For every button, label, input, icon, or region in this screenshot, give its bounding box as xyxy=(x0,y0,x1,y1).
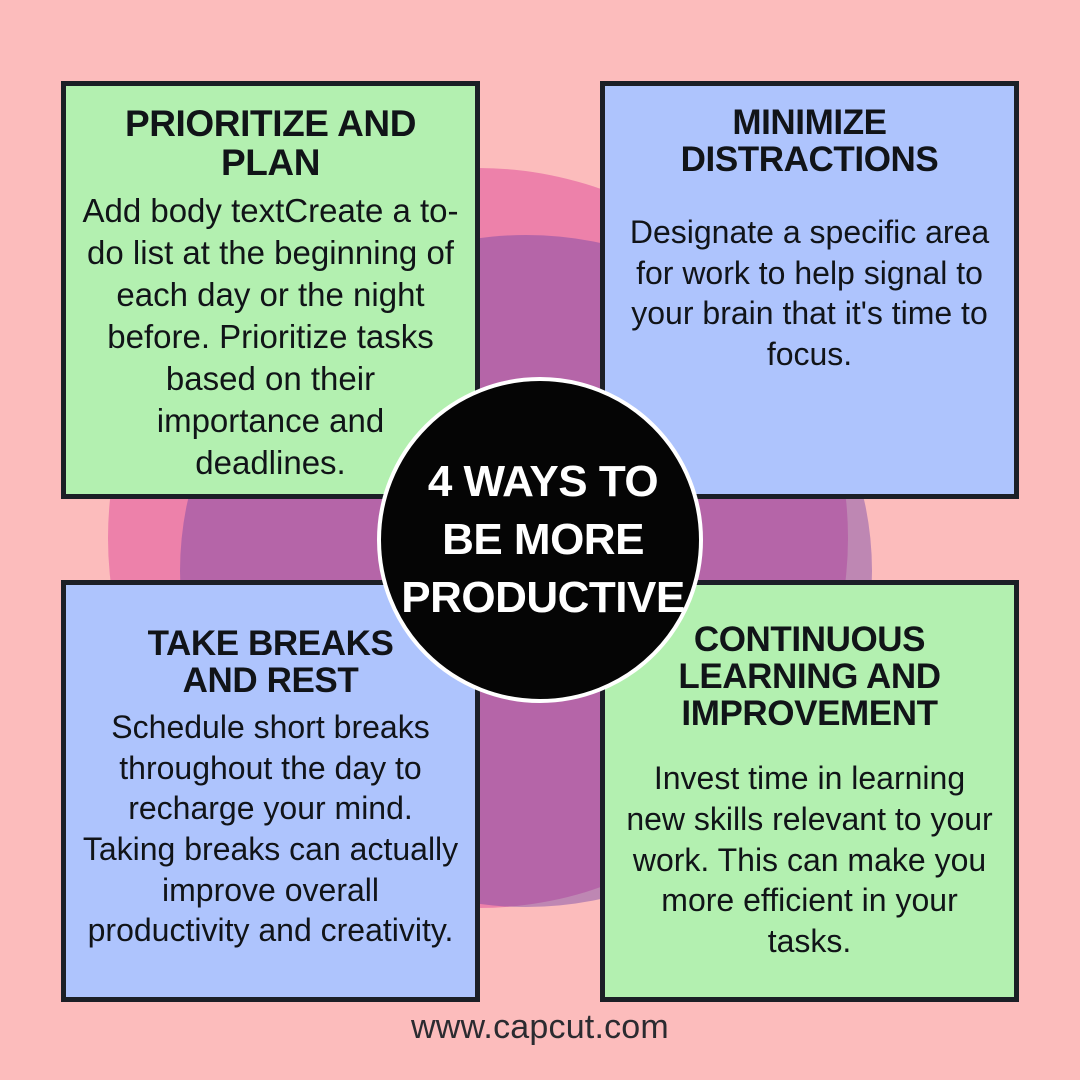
infographic-poster: PRIORITIZE AND PLAN Add body textCreate … xyxy=(0,0,1080,1080)
center-badge-title: 4 WAYS TO BE MORE PRODUCTIVE xyxy=(387,453,699,627)
card-title: PRIORITIZE AND PLAN xyxy=(82,104,459,182)
card-body: Invest time in learning new skills relev… xyxy=(621,758,998,961)
card-body: Schedule short breaks throughout the day… xyxy=(82,707,459,951)
card-body: Add body textCreate a to-do list at the … xyxy=(82,190,459,483)
card-body: Designate a specific area for work to he… xyxy=(621,212,998,375)
center-badge: 4 WAYS TO BE MORE PRODUCTIVE xyxy=(377,377,703,703)
footer-url: www.capcut.com xyxy=(0,1008,1080,1047)
card-title: CONTINUOUS LEARNING AND IMPROVEMENT xyxy=(678,621,940,732)
card-title: TAKE BREAKS AND REST xyxy=(148,625,394,699)
card-title: MINIMIZE DISTRACTIONS xyxy=(681,104,939,178)
